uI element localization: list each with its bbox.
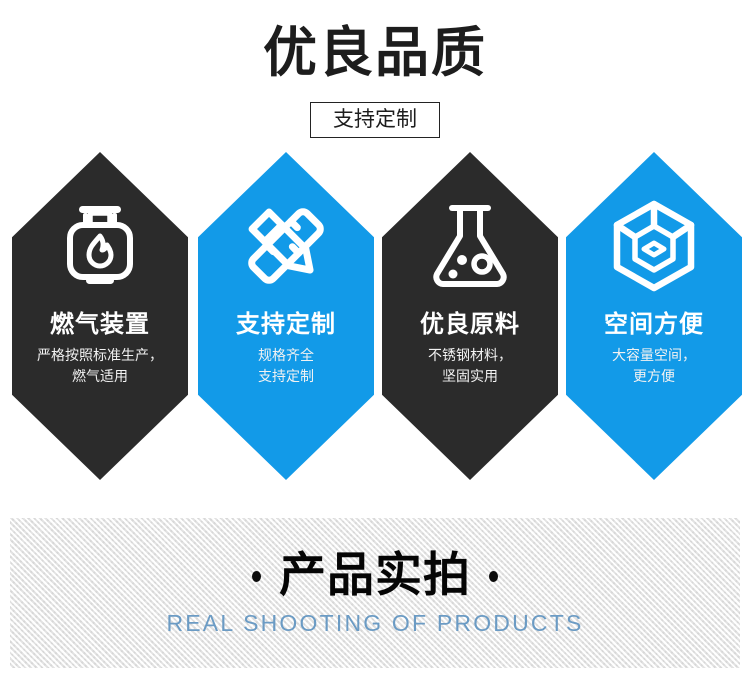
banner-title: 产品实拍 (279, 549, 471, 603)
flask-icon (422, 198, 518, 294)
card-title: 优良原料 (420, 310, 520, 338)
card-description: 严格按照标准生产， 燃气适用 (37, 346, 163, 388)
card-title: 支持定制 (236, 310, 336, 338)
gas-cylinder-icon (52, 198, 148, 294)
card-title: 空间方便 (604, 310, 704, 338)
card-desc-line-2: 燃气适用 (72, 369, 128, 385)
feature-card-row: 燃气装置 严格按照标准生产， 燃气适用 (0, 152, 750, 484)
header-section: 优良品质 支持定制 (0, 0, 750, 150)
card-desc-line-2: 支持定制 (258, 369, 314, 385)
card-desc-line-1: 不锈钢材料， (428, 348, 512, 364)
card-description: 不锈钢材料， 坚固实用 (428, 346, 512, 388)
banner-title-row: 产品实拍 (252, 549, 498, 603)
bullet-dot-right-icon (489, 571, 498, 582)
feature-card-gas-device[interactable]: 燃气装置 严格按照标准生产， 燃气适用 (12, 152, 188, 480)
pencil-ruler-icon (238, 198, 334, 294)
real-shooting-banner: 产品实拍 REAL SHOOTING OF PRODUCTS (10, 518, 740, 668)
card-description: 大容量空间， 更方便 (612, 346, 696, 388)
card-desc-line-1: 规格齐全 (258, 348, 314, 364)
custom-support-badge: 支持定制 (310, 102, 440, 138)
card-desc-line-2: 更方便 (633, 369, 675, 385)
feature-card-space[interactable]: 空间方便 大容量空间， 更方便 (566, 152, 742, 480)
feature-card-customization[interactable]: 支持定制 规格齐全 支持定制 (198, 152, 374, 480)
card-description: 规格齐全 支持定制 (258, 346, 314, 388)
feature-card-material[interactable]: 优良原料 不锈钢材料， 坚固实用 (382, 152, 558, 480)
card-desc-line-1: 大容量空间， (612, 348, 696, 364)
card-title: 燃气装置 (50, 310, 150, 338)
page-title: 优良品质 (0, 22, 750, 84)
card-desc-line-2: 坚固实用 (442, 369, 498, 385)
card-desc-line-1: 严格按照标准生产， (37, 348, 163, 364)
bullet-dot-left-icon (252, 571, 261, 582)
promo-page: 优良品质 支持定制 燃气装置 严格按照标准生产， 燃气适用 (0, 0, 750, 678)
cube-icon (606, 198, 702, 294)
banner-subtitle: REAL SHOOTING OF PRODUCTS (166, 610, 583, 637)
